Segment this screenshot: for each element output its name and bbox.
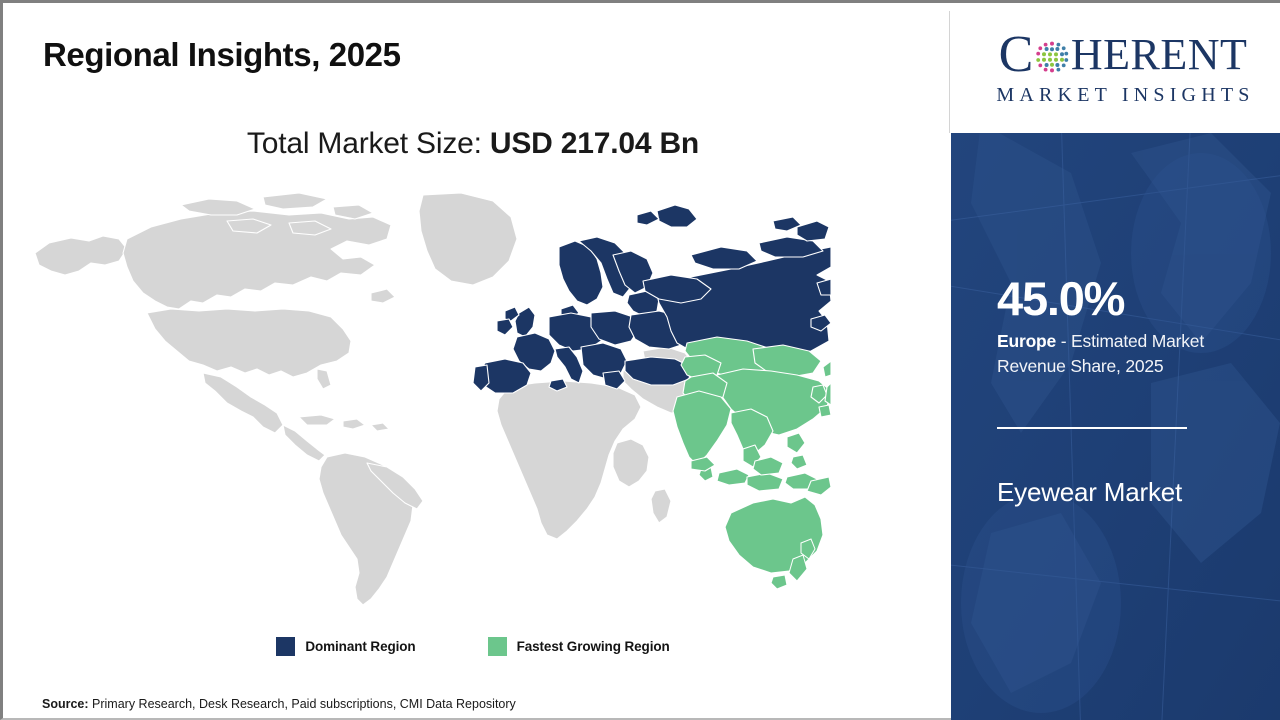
legend-label-dominant: Dominant Region (305, 639, 415, 654)
panel-divider (997, 427, 1187, 429)
legend-label-fastest-growing: Fastest Growing Region (517, 639, 670, 654)
regional-insights-infographic: Regional Insights, 2025 Total Market Siz… (0, 0, 1280, 720)
company-logo: C (963, 3, 1280, 133)
left-content-pane: Regional Insights, 2025 Total Market Siz… (3, 3, 951, 720)
revenue-share-region: Europe (997, 331, 1056, 351)
map-region-africa (497, 381, 671, 539)
logo-tagline: MARKET INSIGHTS (991, 84, 1254, 107)
logo-letters-herent: HERENT (1071, 33, 1248, 77)
total-market-size-label: Total Market Size: (247, 127, 482, 160)
source-label: Source: (42, 697, 89, 711)
square-swatch-icon (276, 637, 295, 656)
logo-letter-c: C (999, 29, 1034, 81)
revenue-share-percent: 45.0% (997, 275, 1124, 322)
legend-item-dominant: Dominant Region (276, 637, 415, 656)
logo-wordmark: C (999, 29, 1248, 81)
total-market-size: Total Market Size: USD 217.04 Bn (3, 127, 943, 161)
header-divider (949, 11, 950, 133)
square-swatch-icon (488, 637, 507, 656)
total-market-size-value: USD 217.04 Bn (490, 127, 699, 160)
page-title: Regional Insights, 2025 (43, 36, 401, 74)
regional-stat-panel: 45.0% Europe - Estimated Market Revenue … (951, 133, 1280, 720)
revenue-share-description: Europe - Estimated Market Revenue Share,… (997, 329, 1267, 379)
source-note: Source: Primary Research, Desk Research,… (42, 697, 516, 711)
map-region-south-america (319, 453, 423, 605)
panel-content: 45.0% Europe - Estimated Market Revenue … (997, 133, 1257, 720)
dotted-globe-icon (1034, 39, 1070, 75)
world-map-svg (31, 191, 831, 611)
world-map (31, 191, 831, 611)
map-legend: Dominant Region Fastest Growing Region (3, 637, 943, 656)
market-name: Eyewear Market (997, 471, 1247, 514)
source-text: Primary Research, Desk Research, Paid su… (89, 697, 516, 711)
legend-item-fastest-growing: Fastest Growing Region (488, 637, 670, 656)
